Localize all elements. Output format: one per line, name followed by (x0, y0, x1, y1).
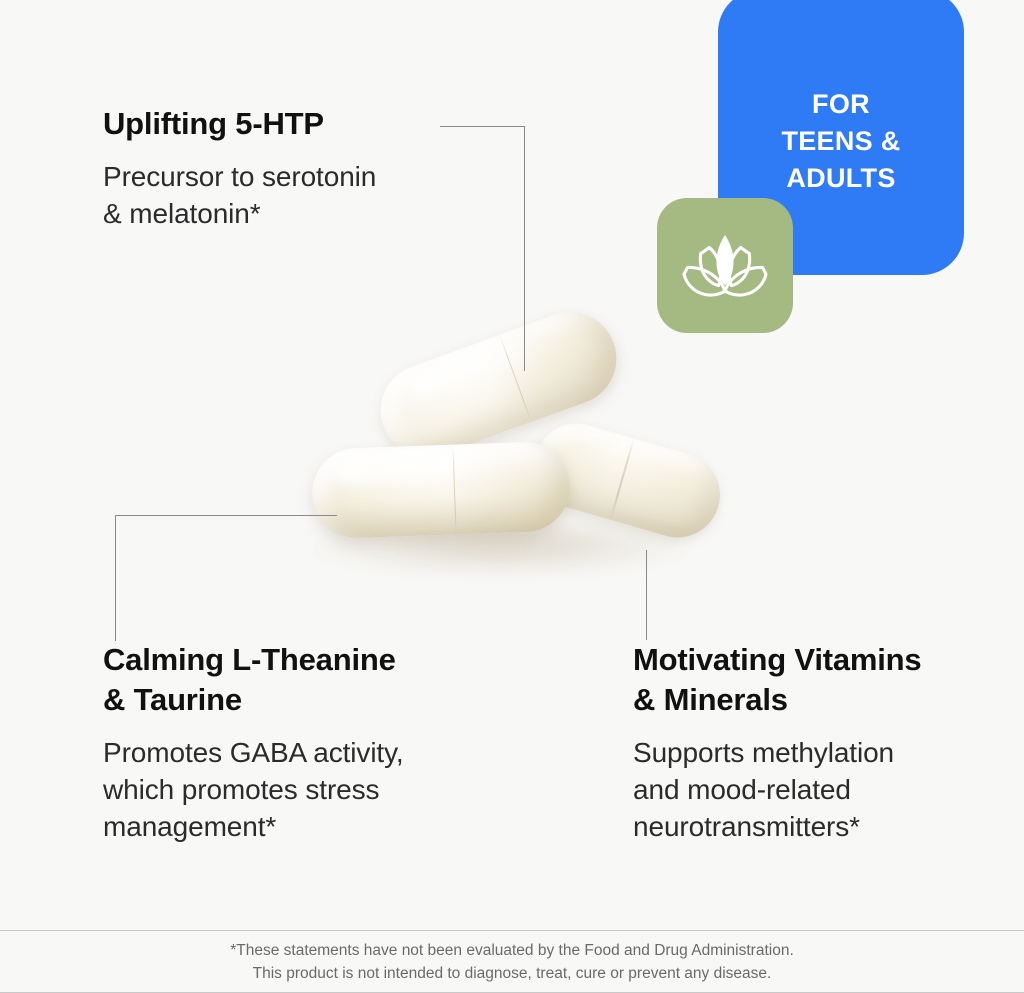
lotus-badge (657, 198, 793, 333)
callout-body: Promotes GABA activity, which promotes s… (103, 734, 543, 845)
callout-heading: Motivating Vitamins & Minerals (633, 640, 1013, 720)
leader-line-vitamins-vertical (646, 550, 647, 640)
callout-heading: Uplifting 5-HTP (103, 104, 503, 144)
leader-line-theanine-horizontal (115, 515, 337, 516)
callout-uplifting-5-htp: Uplifting 5-HTP Precursor to serotonin &… (103, 104, 503, 232)
audience-badge-label: FOR TEENS & ADULTS (781, 68, 900, 197)
leader-line-theanine-vertical (115, 515, 116, 641)
callout-heading: Calming L-Theanine & Taurine (103, 640, 543, 720)
infographic-root: FOR TEENS & ADULTS (0, 0, 1024, 993)
footer-disclaimer-bar: *These statements have not been evaluate… (0, 930, 1024, 993)
footer-disclaimer-text: *These statements have not been evaluate… (230, 939, 794, 985)
callout-motivating-vitamins: Motivating Vitamins & Minerals Supports … (633, 640, 1013, 845)
leader-line-htp-vertical (524, 126, 525, 371)
capsule-front (311, 441, 572, 540)
callout-body: Supports methylation and mood-related ne… (633, 734, 1013, 845)
callout-body: Precursor to serotonin & melatonin* (103, 158, 503, 232)
lotus-flower-icon (679, 227, 771, 305)
callout-calming-l-theanine: Calming L-Theanine & Taurine Promotes GA… (103, 640, 543, 845)
capsules-photo (290, 330, 720, 595)
